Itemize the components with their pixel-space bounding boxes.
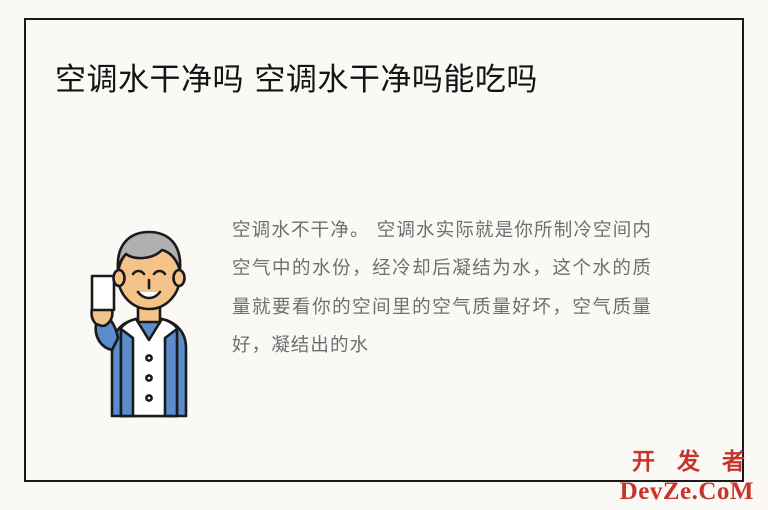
watermark: 开 发 者 DevZe.CoM: [620, 451, 754, 504]
article-body: 空调水不干净。 空调水实际就是你所制冷空间内空气中的水份，经冷却后凝结为水，这个…: [232, 212, 652, 366]
page-title: 空调水干净吗 空调水干净吗能吃吗: [55, 58, 695, 103]
elderly-man-holding-card-illustration: [78, 198, 208, 418]
watermark-cn: 开 发 者: [620, 451, 754, 474]
watermark-en: DevZe.CoM: [620, 479, 754, 504]
article-card: 空调水干净吗 空调水干净吗能吃吗: [0, 0, 768, 510]
